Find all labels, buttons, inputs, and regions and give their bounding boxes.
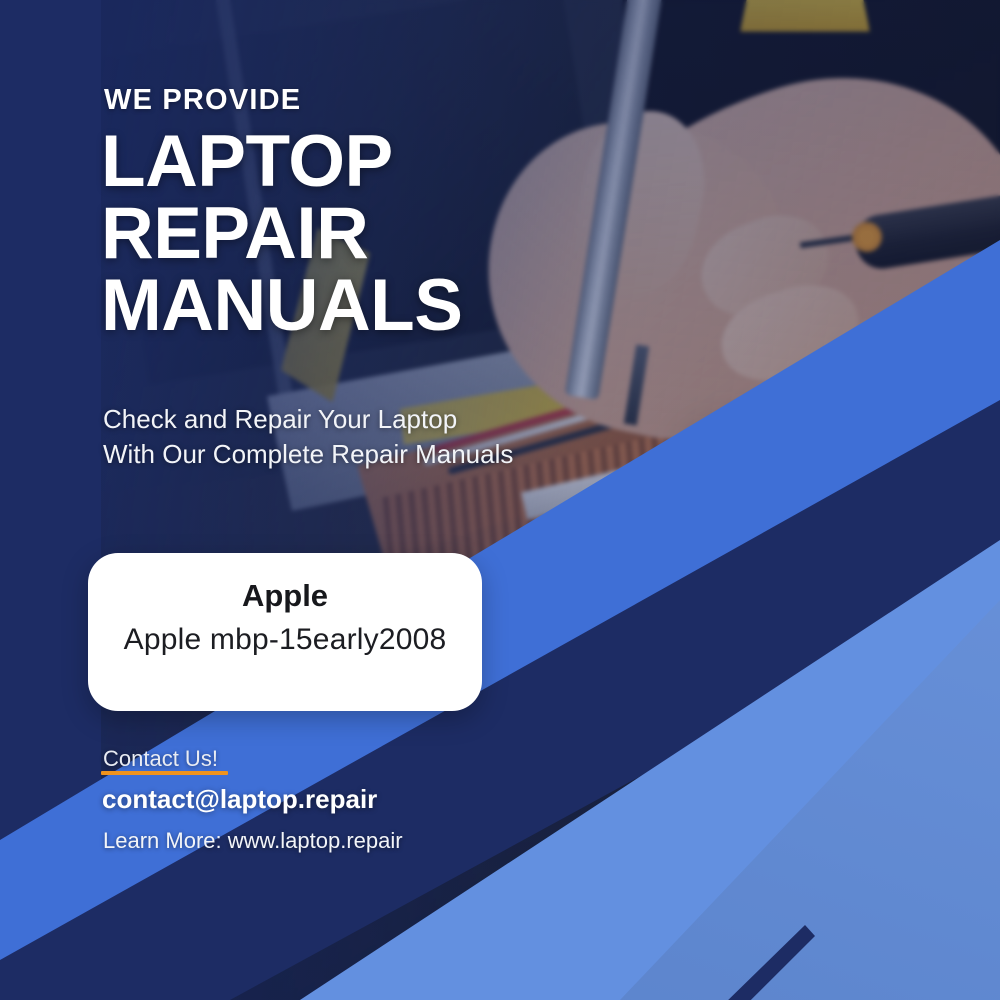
poster-content: WE PROVIDE LAPTOP REPAIR MANUALS Check a… [0, 0, 1000, 1000]
contact-website[interactable]: Learn More: www.laptop.repair [103, 828, 403, 854]
subheading-line-1: Check and Repair Your Laptop [103, 402, 513, 437]
eyebrow-text: WE PROVIDE [104, 84, 301, 117]
contact-email[interactable]: contact@laptop.repair [102, 784, 377, 815]
contact-label: Contact Us! [103, 746, 218, 772]
subheading-line-2: With Our Complete Repair Manuals [103, 437, 513, 472]
product-card[interactable]: Apple Apple mbp-15early2008 [88, 553, 482, 711]
contact-underline [101, 771, 228, 775]
product-model: Apple mbp-15early2008 [88, 623, 482, 657]
headline-line-1: LAPTOP [101, 126, 462, 198]
subheading: Check and Repair Your Laptop With Our Co… [103, 402, 513, 472]
headline-line-3: MANUALS [101, 270, 462, 342]
product-brand: Apple [88, 578, 482, 614]
poster: WE PROVIDE LAPTOP REPAIR MANUALS Check a… [0, 0, 1000, 1000]
page-title: LAPTOP REPAIR MANUALS [101, 126, 462, 342]
headline-line-2: REPAIR [101, 198, 462, 270]
